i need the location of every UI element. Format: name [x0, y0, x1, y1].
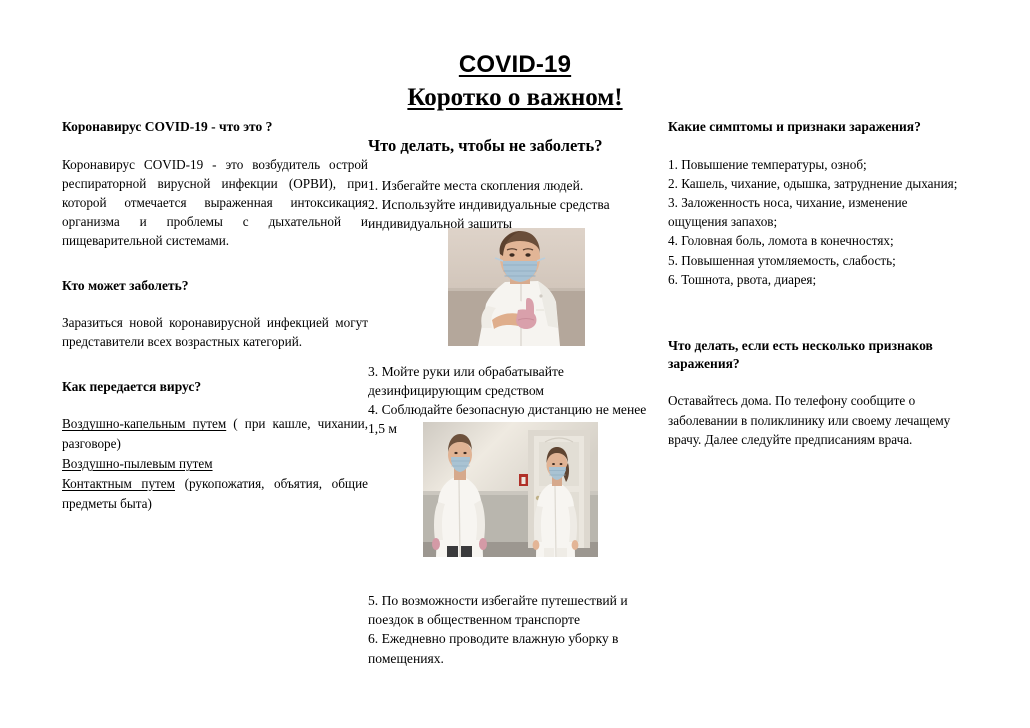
- spacer: [62, 352, 368, 378]
- list-item: 1. Повышение температуры, озноб;: [668, 155, 960, 174]
- title-sub-row: Коротко о важном!: [0, 84, 1030, 112]
- heading-how-to-avoid-illness: Что делать, чтобы не заболеть?: [368, 136, 658, 157]
- middle-column: Что делать, чтобы не заболеть? 1. Избега…: [368, 136, 658, 668]
- prevention-list-part-1: 1. Избегайте места скопления людей. 2. И…: [368, 176, 658, 234]
- spacer: [62, 395, 368, 414]
- spacer: [668, 136, 960, 155]
- spacer: [668, 289, 960, 337]
- right-column: Какие симптомы и признаки заражения? 1. …: [668, 118, 960, 449]
- list-item: 4. Головная боль, ломота в конечностях;: [668, 231, 960, 250]
- heading-how-transmitted: Как передается вирус?: [62, 378, 368, 396]
- symptoms-list: 1. Повышение температуры, озноб; 2. Каше…: [668, 155, 960, 289]
- left-column: Коронавирус COVID-19 - что это ? Коронав…: [62, 118, 368, 513]
- heading-who-can-get-sick: Кто может заболеть?: [62, 277, 368, 295]
- paragraph-what-is-covid: Коронавирус COVID-19 - это возбудитель о…: [62, 155, 368, 251]
- heading-symptoms: Какие симптомы и признаки заражения?: [668, 118, 960, 136]
- spacer: [62, 294, 368, 313]
- photo-medical-worker-thumbs-up-graphic: [448, 228, 585, 346]
- paragraph-who-can-get-sick: Заразиться новой коронавирусной инфекцие…: [62, 313, 368, 351]
- page-subtitle: Коротко о важном!: [407, 84, 622, 112]
- paragraph-what-to-do-if-symptoms: Оставайтесь дома. По телефону сообщите о…: [668, 391, 960, 448]
- photo-medical-worker-thumbs-up: [448, 228, 585, 346]
- list-item: 2. Кашель, чихание, одышка, затруднение …: [668, 174, 960, 193]
- spacer: [62, 251, 368, 277]
- list-item: 3. Заложенность носа, чихание, изменение…: [668, 193, 960, 231]
- page-title: COVID-19: [459, 52, 571, 78]
- poster-title-block: COVID-19 Коротко о важном!: [0, 52, 1030, 112]
- transmission-term: Контактным путем: [62, 476, 175, 491]
- list-item: 1. Избегайте места скопления людей.: [368, 176, 658, 195]
- list-item: 3. Мойте руки или обрабатывайте дезинфиц…: [368, 362, 658, 401]
- spacer: [668, 372, 960, 391]
- transmission-term: Воздушно-капельным путем: [62, 416, 226, 431]
- list-item: 5. По возможности избегайте путешествий …: [368, 591, 658, 630]
- list-item: 5. Повышенная утомляемость, слабость;: [668, 251, 960, 270]
- transmission-item-contact: Контактным путем (рукопожатия, объятия, …: [62, 474, 368, 514]
- transmission-term: Воздушно-пылевым путем: [62, 456, 213, 471]
- list-item: 6. Ежедневно проводите влажную уборку в …: [368, 629, 658, 668]
- spacer: [368, 157, 658, 176]
- transmission-item-airborne-droplet: Воздушно-капельным путем ( при кашле, чи…: [62, 414, 368, 454]
- poster-page: COVID-19 Коротко о важном! Коронавирус C…: [0, 0, 1030, 728]
- photo-two-workers-distance: [423, 422, 598, 557]
- prevention-list-part-3: 5. По возможности избегайте путешествий …: [368, 591, 658, 668]
- heading-what-to-do-if-symptoms: Что делать, если есть несколько признако…: [668, 337, 960, 373]
- photo-two-workers-distance-graphic: [423, 422, 598, 557]
- list-item: 6. Тошнота, рвота, диарея;: [668, 270, 960, 289]
- title-main-row: COVID-19: [0, 52, 1030, 78]
- spacer: [62, 136, 368, 155]
- transmission-item-airborne-dust: Воздушно-пылевым путем: [62, 454, 368, 474]
- heading-what-is-covid: Коронавирус COVID-19 - что это ?: [62, 118, 368, 136]
